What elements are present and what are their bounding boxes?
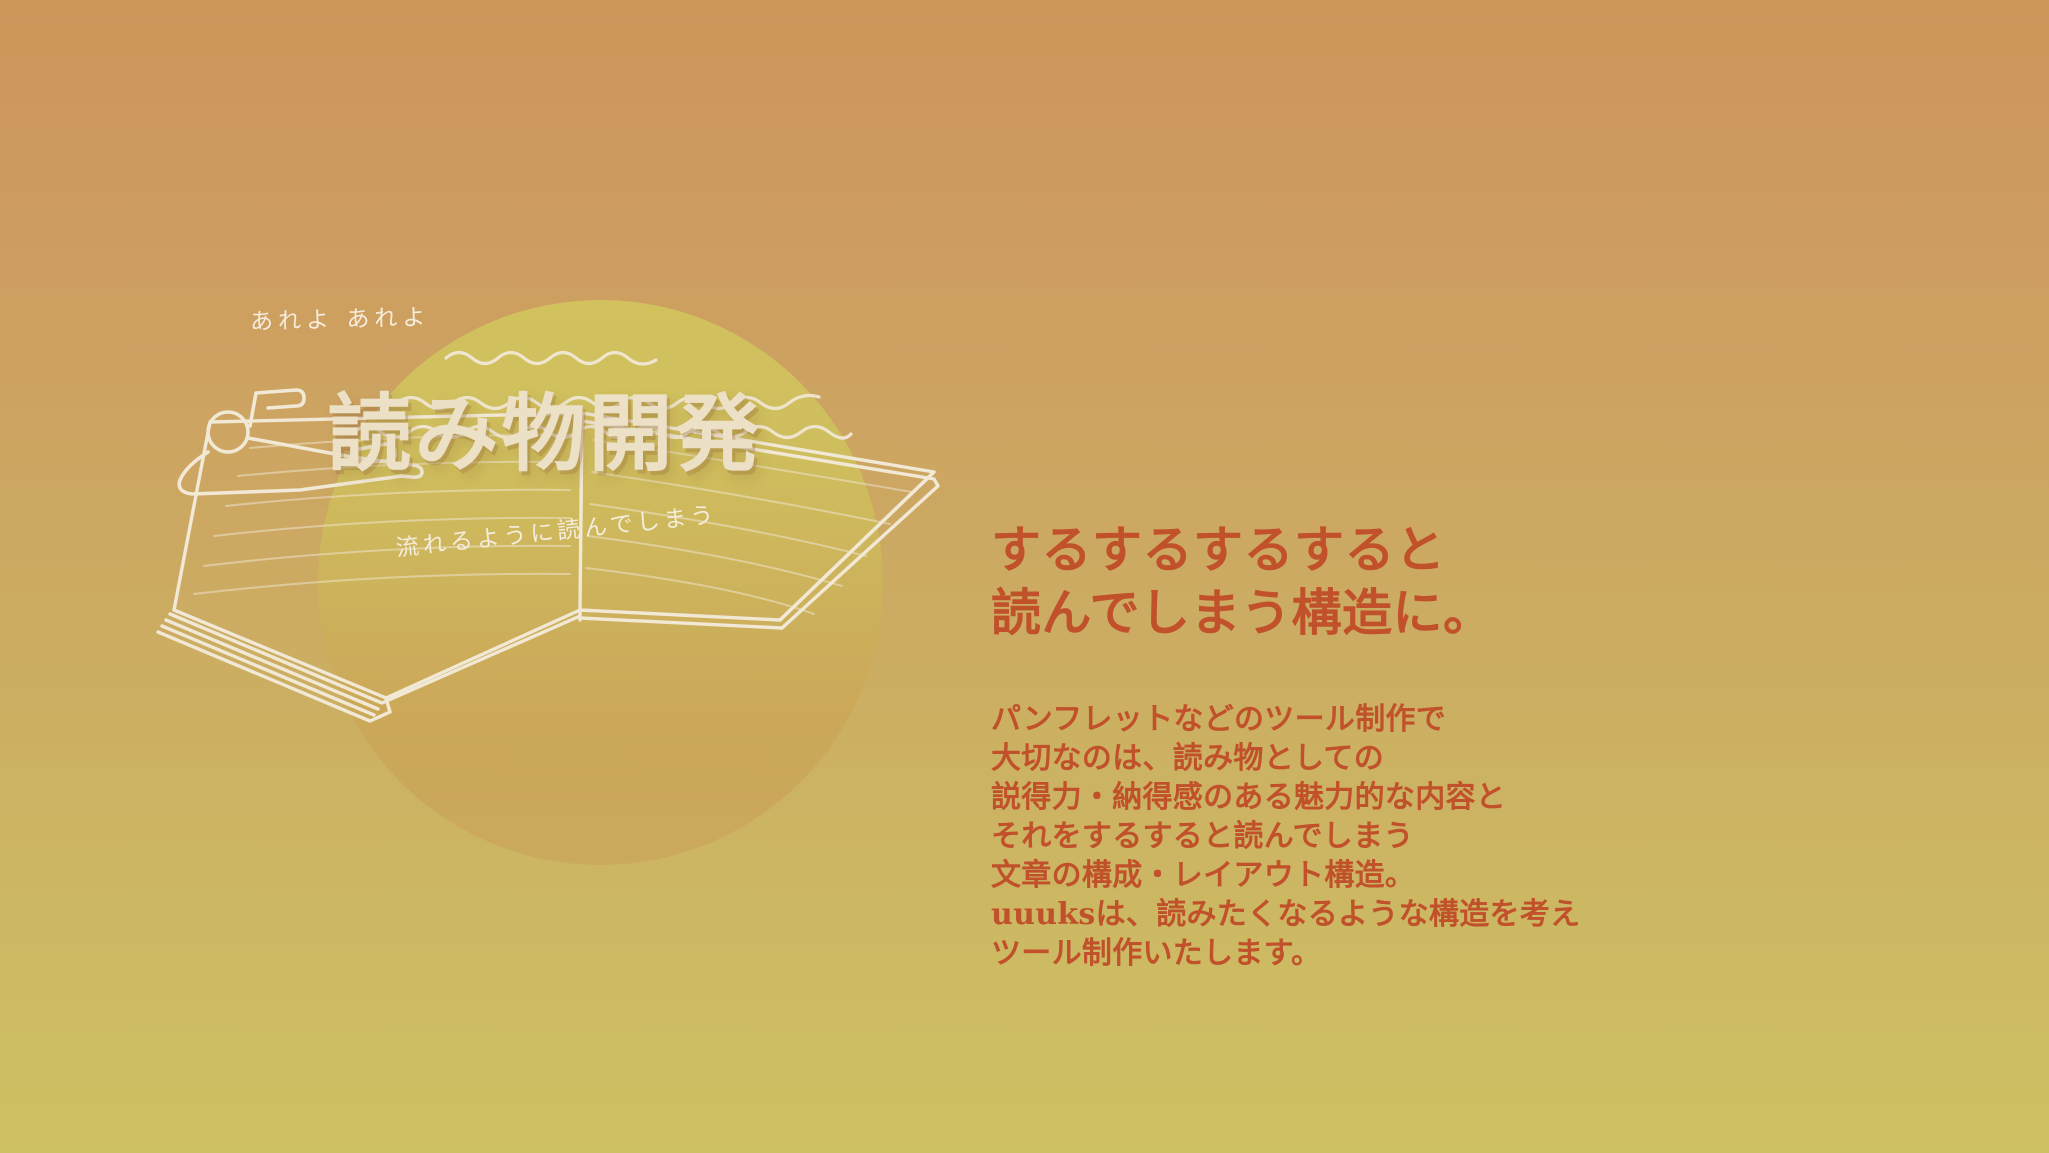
body-line: パンフレットなどのツール制作で bbox=[991, 700, 1891, 739]
book-title: 読み物開発 bbox=[245, 392, 845, 476]
body-line: 説得力・納得感のある魅力的な内容と bbox=[991, 778, 1891, 817]
body-line: 文章の構成・レイアウト構造。 bbox=[991, 856, 1891, 895]
headline: するするするすると 読んでしまう構造に。 bbox=[991, 518, 1891, 644]
headline-line: するするするすると bbox=[991, 518, 1891, 581]
body-line: ツール制作いたします。 bbox=[991, 934, 1891, 973]
copy-block: するするするすると 読んでしまう構造に。 パンフレットなどのツール制作で 大切な… bbox=[991, 518, 1891, 973]
body-line: uuuksは、読みたくなるような構造を考え bbox=[991, 895, 1891, 934]
poster-canvas: 読み物開発 あれよ あれよ 流れるように読んでしまう するするするすると 読んで… bbox=[0, 0, 2049, 1153]
handwritten-note-top: あれよ あれよ bbox=[250, 298, 431, 337]
headline-line: 読んでしまう構造に。 bbox=[991, 581, 1891, 644]
illustration-group: 読み物開発 あれよ あれよ 流れるように読んでしまう bbox=[150, 280, 980, 880]
body-line: それをするすると読んでしまう bbox=[991, 817, 1891, 856]
line-art-svg bbox=[150, 280, 980, 880]
body-copy: パンフレットなどのツール制作で 大切なのは、読み物としての 説得力・納得感のある… bbox=[991, 700, 1891, 973]
body-line: 大切なのは、読み物としての bbox=[991, 739, 1891, 778]
